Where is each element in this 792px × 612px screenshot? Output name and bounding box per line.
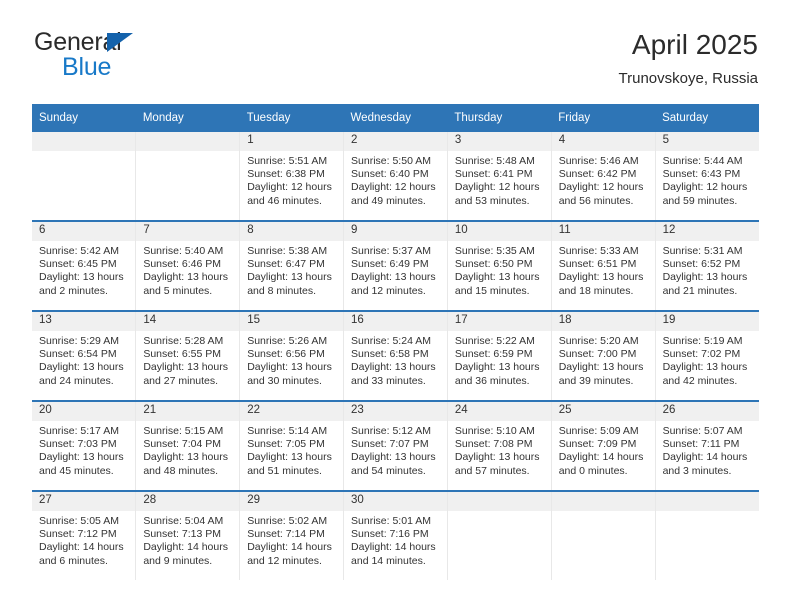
- weekday-header-tuesday: Tuesday: [240, 104, 344, 132]
- day-cell-content: [448, 492, 551, 580]
- calendar-day-cell[interactable]: 29Sunrise: 5:02 AMSunset: 7:14 PMDayligh…: [240, 491, 344, 580]
- sunrise-time: Sunrise: 5:35 AM: [455, 245, 544, 258]
- day-number: 13: [32, 312, 135, 331]
- day-details: Sunrise: 5:07 AMSunset: 7:11 PMDaylight:…: [656, 421, 759, 478]
- sunset-time: Sunset: 6:54 PM: [39, 348, 128, 361]
- general-blue-logo[interactable]: General Blue: [34, 28, 274, 92]
- sunset-time: Sunset: 7:04 PM: [143, 438, 232, 451]
- day-cell-content: 22Sunrise: 5:14 AMSunset: 7:05 PMDayligh…: [240, 402, 343, 490]
- calendar-day-cell[interactable]: 20Sunrise: 5:17 AMSunset: 7:03 PMDayligh…: [32, 401, 136, 491]
- calendar-day-cell[interactable]: 8Sunrise: 5:38 AMSunset: 6:47 PMDaylight…: [240, 221, 344, 311]
- weekday-header-wednesday: Wednesday: [344, 104, 448, 132]
- day-number: 6: [32, 222, 135, 241]
- calendar-day-cell[interactable]: 13Sunrise: 5:29 AMSunset: 6:54 PMDayligh…: [32, 311, 136, 401]
- day-number: 29: [240, 492, 343, 511]
- day-number: [136, 132, 239, 151]
- sunset-time: Sunset: 6:51 PM: [559, 258, 648, 271]
- daylight-line-2: and 48 minutes.: [143, 465, 232, 478]
- day-number: 23: [344, 402, 447, 421]
- calendar-day-cell[interactable]: 19Sunrise: 5:19 AMSunset: 7:02 PMDayligh…: [655, 311, 759, 401]
- day-cell-content: 30Sunrise: 5:01 AMSunset: 7:16 PMDayligh…: [344, 492, 447, 580]
- day-cell-content: 9Sunrise: 5:37 AMSunset: 6:49 PMDaylight…: [344, 222, 447, 310]
- day-number: 5: [656, 132, 759, 151]
- sunrise-time: Sunrise: 5:04 AM: [143, 515, 232, 528]
- sunset-time: Sunset: 7:07 PM: [351, 438, 440, 451]
- daylight-line-2: and 15 minutes.: [455, 285, 544, 298]
- daylight-line-2: and 51 minutes.: [247, 465, 336, 478]
- sunrise-time: Sunrise: 5:37 AM: [351, 245, 440, 258]
- day-details: Sunrise: 5:14 AMSunset: 7:05 PMDaylight:…: [240, 421, 343, 478]
- sunrise-time: Sunrise: 5:17 AM: [39, 425, 128, 438]
- daylight-line-1: Daylight: 13 hours: [247, 361, 336, 374]
- daylight-line-1: Daylight: 13 hours: [455, 361, 544, 374]
- daylight-line-1: Daylight: 13 hours: [143, 361, 232, 374]
- day-cell-content: 18Sunrise: 5:20 AMSunset: 7:00 PMDayligh…: [552, 312, 655, 400]
- page-subtitle: Trunovskoye, Russia: [619, 68, 759, 90]
- sunset-time: Sunset: 7:05 PM: [247, 438, 336, 451]
- calendar-day-cell[interactable]: 3Sunrise: 5:48 AMSunset: 6:41 PMDaylight…: [447, 132, 551, 221]
- sunrise-time: Sunrise: 5:51 AM: [247, 155, 336, 168]
- day-cell-content: 13Sunrise: 5:29 AMSunset: 6:54 PMDayligh…: [32, 312, 135, 400]
- day-number: 12: [656, 222, 759, 241]
- day-details: Sunrise: 5:51 AMSunset: 6:38 PMDaylight:…: [240, 151, 343, 208]
- calendar-empty-cell: [136, 132, 240, 221]
- day-number: 2: [344, 132, 447, 151]
- day-number: 4: [552, 132, 655, 151]
- sunrise-time: Sunrise: 5:46 AM: [559, 155, 648, 168]
- daylight-line-2: and 18 minutes.: [559, 285, 648, 298]
- day-details: Sunrise: 5:09 AMSunset: 7:09 PMDaylight:…: [552, 421, 655, 478]
- day-cell-content: 23Sunrise: 5:12 AMSunset: 7:07 PMDayligh…: [344, 402, 447, 490]
- calendar-body: 1Sunrise: 5:51 AMSunset: 6:38 PMDaylight…: [32, 132, 759, 580]
- day-cell-content: 29Sunrise: 5:02 AMSunset: 7:14 PMDayligh…: [240, 492, 343, 580]
- daylight-line-2: and 42 minutes.: [663, 375, 752, 388]
- day-number: 27: [32, 492, 135, 511]
- sunset-time: Sunset: 7:14 PM: [247, 528, 336, 541]
- weekday-header-thursday: Thursday: [447, 104, 551, 132]
- day-cell-content: 27Sunrise: 5:05 AMSunset: 7:12 PMDayligh…: [32, 492, 135, 580]
- daylight-line-2: and 6 minutes.: [39, 555, 128, 568]
- calendar-day-cell[interactable]: 14Sunrise: 5:28 AMSunset: 6:55 PMDayligh…: [136, 311, 240, 401]
- daylight-line-2: and 46 minutes.: [247, 195, 336, 208]
- daylight-line-2: and 2 minutes.: [39, 285, 128, 298]
- sunrise-time: Sunrise: 5:31 AM: [663, 245, 752, 258]
- daylight-line-1: Daylight: 13 hours: [247, 271, 336, 284]
- day-cell-content: 3Sunrise: 5:48 AMSunset: 6:41 PMDaylight…: [448, 132, 551, 220]
- day-number: 18: [552, 312, 655, 331]
- sunrise-time: Sunrise: 5:28 AM: [143, 335, 232, 348]
- daylight-line-1: Daylight: 13 hours: [351, 451, 440, 464]
- sunrise-time: Sunrise: 5:44 AM: [663, 155, 752, 168]
- day-details: Sunrise: 5:31 AMSunset: 6:52 PMDaylight:…: [656, 241, 759, 298]
- calendar-day-cell[interactable]: 23Sunrise: 5:12 AMSunset: 7:07 PMDayligh…: [344, 401, 448, 491]
- calendar-day-cell[interactable]: 7Sunrise: 5:40 AMSunset: 6:46 PMDaylight…: [136, 221, 240, 311]
- day-cell-content: 6Sunrise: 5:42 AMSunset: 6:45 PMDaylight…: [32, 222, 135, 310]
- day-cell-content: 25Sunrise: 5:09 AMSunset: 7:09 PMDayligh…: [552, 402, 655, 490]
- day-details: Sunrise: 5:01 AMSunset: 7:16 PMDaylight:…: [344, 511, 447, 568]
- daylight-line-1: Daylight: 13 hours: [559, 361, 648, 374]
- sunrise-time: Sunrise: 5:29 AM: [39, 335, 128, 348]
- calendar-day-cell[interactable]: 17Sunrise: 5:22 AMSunset: 6:59 PMDayligh…: [447, 311, 551, 401]
- daylight-line-1: Daylight: 13 hours: [351, 271, 440, 284]
- daylight-line-2: and 54 minutes.: [351, 465, 440, 478]
- sunrise-time: Sunrise: 5:48 AM: [455, 155, 544, 168]
- sunrise-time: Sunrise: 5:24 AM: [351, 335, 440, 348]
- day-cell-content: [656, 492, 759, 580]
- sunrise-time: Sunrise: 5:33 AM: [559, 245, 648, 258]
- day-number: 8: [240, 222, 343, 241]
- daylight-line-2: and 12 minutes.: [247, 555, 336, 568]
- day-number: 25: [552, 402, 655, 421]
- sunrise-time: Sunrise: 5:07 AM: [663, 425, 752, 438]
- day-cell-content: 20Sunrise: 5:17 AMSunset: 7:03 PMDayligh…: [32, 402, 135, 490]
- day-cell-content: 28Sunrise: 5:04 AMSunset: 7:13 PMDayligh…: [136, 492, 239, 580]
- day-number: 15: [240, 312, 343, 331]
- daylight-line-2: and 27 minutes.: [143, 375, 232, 388]
- day-number: 20: [32, 402, 135, 421]
- calendar-day-cell[interactable]: 24Sunrise: 5:10 AMSunset: 7:08 PMDayligh…: [447, 401, 551, 491]
- daylight-line-2: and 14 minutes.: [351, 555, 440, 568]
- daylight-line-1: Daylight: 12 hours: [247, 181, 336, 194]
- calendar-day-cell[interactable]: 1Sunrise: 5:51 AMSunset: 6:38 PMDaylight…: [240, 132, 344, 221]
- sunrise-time: Sunrise: 5:09 AM: [559, 425, 648, 438]
- calendar-day-cell[interactable]: 21Sunrise: 5:15 AMSunset: 7:04 PMDayligh…: [136, 401, 240, 491]
- day-details: Sunrise: 5:17 AMSunset: 7:03 PMDaylight:…: [32, 421, 135, 478]
- day-details: Sunrise: 5:38 AMSunset: 6:47 PMDaylight:…: [240, 241, 343, 298]
- day-details: Sunrise: 5:15 AMSunset: 7:04 PMDaylight:…: [136, 421, 239, 478]
- daylight-line-2: and 12 minutes.: [351, 285, 440, 298]
- daylight-line-1: Daylight: 13 hours: [39, 271, 128, 284]
- day-number: 14: [136, 312, 239, 331]
- day-details: Sunrise: 5:28 AMSunset: 6:55 PMDaylight:…: [136, 331, 239, 388]
- daylight-line-1: Daylight: 13 hours: [455, 451, 544, 464]
- daylight-line-1: Daylight: 14 hours: [247, 541, 336, 554]
- calendar-week-row: 20Sunrise: 5:17 AMSunset: 7:03 PMDayligh…: [32, 401, 759, 491]
- sunrise-time: Sunrise: 5:38 AM: [247, 245, 336, 258]
- day-number: 19: [656, 312, 759, 331]
- sunset-time: Sunset: 6:41 PM: [455, 168, 544, 181]
- calendar-day-cell[interactable]: 30Sunrise: 5:01 AMSunset: 7:16 PMDayligh…: [344, 491, 448, 580]
- calendar-empty-cell: [655, 491, 759, 580]
- day-number: 10: [448, 222, 551, 241]
- day-cell-content: 19Sunrise: 5:19 AMSunset: 7:02 PMDayligh…: [656, 312, 759, 400]
- day-details: Sunrise: 5:04 AMSunset: 7:13 PMDaylight:…: [136, 511, 239, 568]
- sunset-time: Sunset: 6:40 PM: [351, 168, 440, 181]
- daylight-line-2: and 33 minutes.: [351, 375, 440, 388]
- sunrise-time: Sunrise: 5:14 AM: [247, 425, 336, 438]
- sunset-time: Sunset: 6:58 PM: [351, 348, 440, 361]
- sunset-time: Sunset: 7:02 PM: [663, 348, 752, 361]
- calendar-day-cell[interactable]: 6Sunrise: 5:42 AMSunset: 6:45 PMDaylight…: [32, 221, 136, 311]
- daylight-line-2: and 45 minutes.: [39, 465, 128, 478]
- daylight-line-1: Daylight: 14 hours: [559, 451, 648, 464]
- weekday-header-friday: Friday: [551, 104, 655, 132]
- sunset-time: Sunset: 7:09 PM: [559, 438, 648, 451]
- calendar-empty-cell: [551, 491, 655, 580]
- calendar-grid: Sunday Monday Tuesday Wednesday Thursday…: [32, 104, 759, 580]
- daylight-line-1: Daylight: 14 hours: [351, 541, 440, 554]
- sunset-time: Sunset: 6:59 PM: [455, 348, 544, 361]
- sunrise-time: Sunrise: 5:10 AM: [455, 425, 544, 438]
- daylight-line-1: Daylight: 13 hours: [143, 451, 232, 464]
- day-number: [656, 492, 759, 511]
- daylight-line-2: and 39 minutes.: [559, 375, 648, 388]
- day-details: Sunrise: 5:46 AMSunset: 6:42 PMDaylight:…: [552, 151, 655, 208]
- sunset-time: Sunset: 7:16 PM: [351, 528, 440, 541]
- day-number: 28: [136, 492, 239, 511]
- daylight-line-2: and 57 minutes.: [455, 465, 544, 478]
- day-details: Sunrise: 5:26 AMSunset: 6:56 PMDaylight:…: [240, 331, 343, 388]
- day-number: [448, 492, 551, 511]
- daylight-line-2: and 5 minutes.: [143, 285, 232, 298]
- day-cell-content: 16Sunrise: 5:24 AMSunset: 6:58 PMDayligh…: [344, 312, 447, 400]
- title-block: April 2025 Trunovskoye, Russia: [619, 28, 759, 90]
- calendar-week-row: 27Sunrise: 5:05 AMSunset: 7:12 PMDayligh…: [32, 491, 759, 580]
- day-details: Sunrise: 5:35 AMSunset: 6:50 PMDaylight:…: [448, 241, 551, 298]
- daylight-line-1: Daylight: 12 hours: [455, 181, 544, 194]
- day-number: 1: [240, 132, 343, 151]
- daylight-line-2: and 53 minutes.: [455, 195, 544, 208]
- sunrise-time: Sunrise: 5:12 AM: [351, 425, 440, 438]
- calendar-day-cell[interactable]: 12Sunrise: 5:31 AMSunset: 6:52 PMDayligh…: [655, 221, 759, 311]
- day-number: 30: [344, 492, 447, 511]
- sunrise-time: Sunrise: 5:01 AM: [351, 515, 440, 528]
- day-details: Sunrise: 5:42 AMSunset: 6:45 PMDaylight:…: [32, 241, 135, 298]
- daylight-line-2: and 8 minutes.: [247, 285, 336, 298]
- sunset-time: Sunset: 7:13 PM: [143, 528, 232, 541]
- day-number: 7: [136, 222, 239, 241]
- calendar-day-cell[interactable]: 5Sunrise: 5:44 AMSunset: 6:43 PMDaylight…: [655, 132, 759, 221]
- calendar-day-cell[interactable]: 10Sunrise: 5:35 AMSunset: 6:50 PMDayligh…: [447, 221, 551, 311]
- day-number: [552, 492, 655, 511]
- calendar-day-cell[interactable]: 16Sunrise: 5:24 AMSunset: 6:58 PMDayligh…: [344, 311, 448, 401]
- calendar-page: General Blue April 2025 Trunovskoye, Rus…: [0, 0, 792, 612]
- day-details: Sunrise: 5:29 AMSunset: 6:54 PMDaylight:…: [32, 331, 135, 388]
- daylight-line-1: Daylight: 13 hours: [351, 361, 440, 374]
- sunrise-time: Sunrise: 5:22 AM: [455, 335, 544, 348]
- daylight-line-2: and 30 minutes.: [247, 375, 336, 388]
- sunset-time: Sunset: 7:11 PM: [663, 438, 752, 451]
- sunrise-time: Sunrise: 5:02 AM: [247, 515, 336, 528]
- calendar-week-row: 6Sunrise: 5:42 AMSunset: 6:45 PMDaylight…: [32, 221, 759, 311]
- weekday-header-sunday: Sunday: [32, 104, 136, 132]
- day-details: Sunrise: 5:24 AMSunset: 6:58 PMDaylight:…: [344, 331, 447, 388]
- sunset-time: Sunset: 6:49 PM: [351, 258, 440, 271]
- daylight-line-1: Daylight: 12 hours: [559, 181, 648, 194]
- day-number: 21: [136, 402, 239, 421]
- day-number: 9: [344, 222, 447, 241]
- calendar-day-cell[interactable]: 18Sunrise: 5:20 AMSunset: 7:00 PMDayligh…: [551, 311, 655, 401]
- day-cell-content: 26Sunrise: 5:07 AMSunset: 7:11 PMDayligh…: [656, 402, 759, 490]
- weekday-header-monday: Monday: [136, 104, 240, 132]
- day-cell-content: 12Sunrise: 5:31 AMSunset: 6:52 PMDayligh…: [656, 222, 759, 310]
- day-details: Sunrise: 5:19 AMSunset: 7:02 PMDaylight:…: [656, 331, 759, 388]
- day-details: Sunrise: 5:02 AMSunset: 7:14 PMDaylight:…: [240, 511, 343, 568]
- daylight-line-1: Daylight: 13 hours: [559, 271, 648, 284]
- day-number: 22: [240, 402, 343, 421]
- daylight-line-1: Daylight: 14 hours: [143, 541, 232, 554]
- day-cell-content: 1Sunrise: 5:51 AMSunset: 6:38 PMDaylight…: [240, 132, 343, 220]
- day-number: 16: [344, 312, 447, 331]
- calendar-header-row: Sunday Monday Tuesday Wednesday Thursday…: [32, 104, 759, 132]
- daylight-line-2: and 36 minutes.: [455, 375, 544, 388]
- calendar-day-cell[interactable]: 11Sunrise: 5:33 AMSunset: 6:51 PMDayligh…: [551, 221, 655, 311]
- sunrise-time: Sunrise: 5:50 AM: [351, 155, 440, 168]
- day-cell-content: 15Sunrise: 5:26 AMSunset: 6:56 PMDayligh…: [240, 312, 343, 400]
- day-details: Sunrise: 5:37 AMSunset: 6:49 PMDaylight:…: [344, 241, 447, 298]
- day-details: Sunrise: 5:12 AMSunset: 7:07 PMDaylight:…: [344, 421, 447, 478]
- sunset-time: Sunset: 6:46 PM: [143, 258, 232, 271]
- page-title: April 2025: [619, 28, 759, 62]
- day-cell-content: 14Sunrise: 5:28 AMSunset: 6:55 PMDayligh…: [136, 312, 239, 400]
- day-cell-content: 24Sunrise: 5:10 AMSunset: 7:08 PMDayligh…: [448, 402, 551, 490]
- day-number: 26: [656, 402, 759, 421]
- sunset-time: Sunset: 6:43 PM: [663, 168, 752, 181]
- day-cell-content: 8Sunrise: 5:38 AMSunset: 6:47 PMDaylight…: [240, 222, 343, 310]
- daylight-line-1: Daylight: 13 hours: [455, 271, 544, 284]
- day-number: [32, 132, 135, 151]
- sunset-time: Sunset: 7:12 PM: [39, 528, 128, 541]
- calendar-table: Sunday Monday Tuesday Wednesday Thursday…: [32, 104, 759, 580]
- daylight-line-1: Daylight: 13 hours: [247, 451, 336, 464]
- day-number: 3: [448, 132, 551, 151]
- logo-triangle-icon: [107, 33, 133, 52]
- daylight-line-1: Daylight: 12 hours: [663, 181, 752, 194]
- sunset-time: Sunset: 6:45 PM: [39, 258, 128, 271]
- daylight-line-2: and 59 minutes.: [663, 195, 752, 208]
- sunrise-time: Sunrise: 5:26 AM: [247, 335, 336, 348]
- daylight-line-2: and 0 minutes.: [559, 465, 648, 478]
- day-details: Sunrise: 5:10 AMSunset: 7:08 PMDaylight:…: [448, 421, 551, 478]
- daylight-line-2: and 3 minutes.: [663, 465, 752, 478]
- daylight-line-2: and 49 minutes.: [351, 195, 440, 208]
- day-number: 11: [552, 222, 655, 241]
- calendar-day-cell[interactable]: 9Sunrise: 5:37 AMSunset: 6:49 PMDaylight…: [344, 221, 448, 311]
- calendar-day-cell[interactable]: 27Sunrise: 5:05 AMSunset: 7:12 PMDayligh…: [32, 491, 136, 580]
- sunset-time: Sunset: 6:52 PM: [663, 258, 752, 271]
- daylight-line-1: Daylight: 13 hours: [39, 361, 128, 374]
- day-details: Sunrise: 5:40 AMSunset: 6:46 PMDaylight:…: [136, 241, 239, 298]
- day-cell-content: 11Sunrise: 5:33 AMSunset: 6:51 PMDayligh…: [552, 222, 655, 310]
- day-cell-content: [552, 492, 655, 580]
- calendar-day-cell[interactable]: 26Sunrise: 5:07 AMSunset: 7:11 PMDayligh…: [655, 401, 759, 491]
- sunset-time: Sunset: 7:08 PM: [455, 438, 544, 451]
- sunrise-time: Sunrise: 5:05 AM: [39, 515, 128, 528]
- daylight-line-2: and 24 minutes.: [39, 375, 128, 388]
- daylight-line-1: Daylight: 13 hours: [663, 271, 752, 284]
- sunset-time: Sunset: 6:47 PM: [247, 258, 336, 271]
- day-details: Sunrise: 5:33 AMSunset: 6:51 PMDaylight:…: [552, 241, 655, 298]
- calendar-empty-cell: [447, 491, 551, 580]
- calendar-day-cell[interactable]: 28Sunrise: 5:04 AMSunset: 7:13 PMDayligh…: [136, 491, 240, 580]
- day-number: 24: [448, 402, 551, 421]
- sunset-time: Sunset: 6:56 PM: [247, 348, 336, 361]
- day-cell-content: 10Sunrise: 5:35 AMSunset: 6:50 PMDayligh…: [448, 222, 551, 310]
- weekday-header-saturday: Saturday: [655, 104, 759, 132]
- sunset-time: Sunset: 6:55 PM: [143, 348, 232, 361]
- calendar-empty-cell: [32, 132, 136, 221]
- sunrise-time: Sunrise: 5:19 AM: [663, 335, 752, 348]
- calendar-day-cell[interactable]: 15Sunrise: 5:26 AMSunset: 6:56 PMDayligh…: [240, 311, 344, 401]
- daylight-line-1: Daylight: 12 hours: [351, 181, 440, 194]
- day-cell-content: 7Sunrise: 5:40 AMSunset: 6:46 PMDaylight…: [136, 222, 239, 310]
- sunrise-time: Sunrise: 5:15 AM: [143, 425, 232, 438]
- day-number: 17: [448, 312, 551, 331]
- daylight-line-2: and 9 minutes.: [143, 555, 232, 568]
- calendar-week-row: 1Sunrise: 5:51 AMSunset: 6:38 PMDaylight…: [32, 132, 759, 221]
- daylight-line-1: Daylight: 13 hours: [663, 361, 752, 374]
- day-details: Sunrise: 5:48 AMSunset: 6:41 PMDaylight:…: [448, 151, 551, 208]
- calendar-week-row: 13Sunrise: 5:29 AMSunset: 6:54 PMDayligh…: [32, 311, 759, 401]
- day-cell-content: 17Sunrise: 5:22 AMSunset: 6:59 PMDayligh…: [448, 312, 551, 400]
- day-cell-content: 4Sunrise: 5:46 AMSunset: 6:42 PMDaylight…: [552, 132, 655, 220]
- calendar-day-cell[interactable]: 22Sunrise: 5:14 AMSunset: 7:05 PMDayligh…: [240, 401, 344, 491]
- calendar-day-cell[interactable]: 2Sunrise: 5:50 AMSunset: 6:40 PMDaylight…: [344, 132, 448, 221]
- daylight-line-1: Daylight: 13 hours: [39, 451, 128, 464]
- day-cell-content: 2Sunrise: 5:50 AMSunset: 6:40 PMDaylight…: [344, 132, 447, 220]
- sunset-time: Sunset: 7:00 PM: [559, 348, 648, 361]
- daylight-line-1: Daylight: 14 hours: [39, 541, 128, 554]
- sunset-time: Sunset: 6:50 PM: [455, 258, 544, 271]
- sunset-time: Sunset: 7:03 PM: [39, 438, 128, 451]
- daylight-line-2: and 56 minutes.: [559, 195, 648, 208]
- sunset-time: Sunset: 6:42 PM: [559, 168, 648, 181]
- page-header: General Blue April 2025 Trunovskoye, Rus…: [34, 28, 758, 98]
- sunrise-time: Sunrise: 5:42 AM: [39, 245, 128, 258]
- day-details: Sunrise: 5:50 AMSunset: 6:40 PMDaylight:…: [344, 151, 447, 208]
- daylight-line-1: Daylight: 14 hours: [663, 451, 752, 464]
- day-details: Sunrise: 5:44 AMSunset: 6:43 PMDaylight:…: [656, 151, 759, 208]
- day-cell-content: 5Sunrise: 5:44 AMSunset: 6:43 PMDaylight…: [656, 132, 759, 220]
- day-details: Sunrise: 5:05 AMSunset: 7:12 PMDaylight:…: [32, 511, 135, 568]
- logo-text-blue: Blue: [62, 53, 111, 81]
- day-details: Sunrise: 5:20 AMSunset: 7:00 PMDaylight:…: [552, 331, 655, 388]
- sunset-time: Sunset: 6:38 PM: [247, 168, 336, 181]
- day-cell-content: [32, 132, 135, 220]
- day-cell-content: [136, 132, 239, 220]
- calendar-day-cell[interactable]: 4Sunrise: 5:46 AMSunset: 6:42 PMDaylight…: [551, 132, 655, 221]
- day-details: Sunrise: 5:22 AMSunset: 6:59 PMDaylight:…: [448, 331, 551, 388]
- sunrise-time: Sunrise: 5:40 AM: [143, 245, 232, 258]
- day-cell-content: 21Sunrise: 5:15 AMSunset: 7:04 PMDayligh…: [136, 402, 239, 490]
- calendar-day-cell[interactable]: 25Sunrise: 5:09 AMSunset: 7:09 PMDayligh…: [551, 401, 655, 491]
- daylight-line-1: Daylight: 13 hours: [143, 271, 232, 284]
- sunrise-time: Sunrise: 5:20 AM: [559, 335, 648, 348]
- daylight-line-2: and 21 minutes.: [663, 285, 752, 298]
